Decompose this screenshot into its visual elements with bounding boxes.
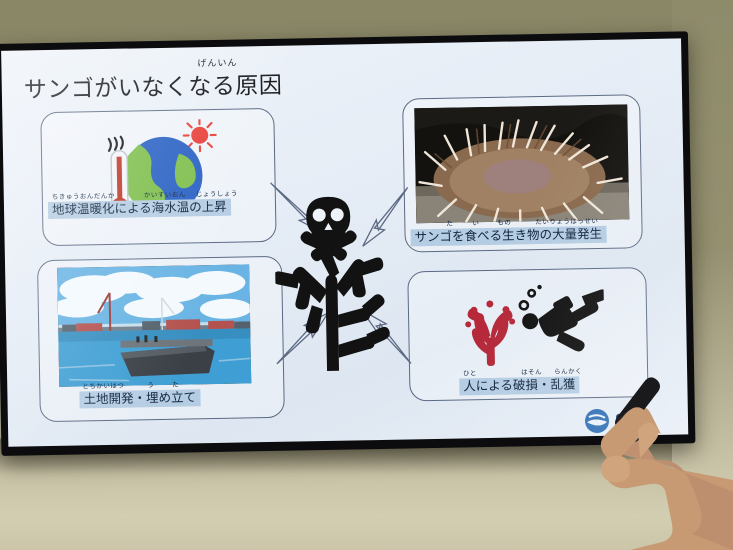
tv-bezel-inner: げんいん サンゴがいなくなる原因 [1, 38, 688, 446]
caption-predators: た い もの たいりょうはっせい サンゴを食べる生き物の大量発生 [410, 226, 606, 247]
hand-holding-pointer [592, 360, 733, 550]
ruby-mono: もの [497, 220, 511, 228]
caption-reclamation: とちかいはつ う た 土地開発・埋め立て [79, 389, 200, 409]
ruby-ta-tate: た [172, 382, 179, 390]
ruby-kaisuion: かいすいおん [144, 192, 186, 200]
presentation-slide: げんいん サンゴがいなくなる原因 [1, 38, 688, 446]
page-title: サンゴがいなくなる原因 [23, 66, 282, 105]
caption-human-damage-text: 人による破損・乱獲 [463, 377, 575, 393]
ruby-ta: た [446, 221, 453, 229]
ruby-tochi-kaihatsu: とちかいはつ [82, 383, 124, 391]
dead-coral-silhouette-icon [274, 244, 391, 372]
ruby-u: う [147, 382, 154, 390]
ruby-hito: ひと [463, 370, 477, 378]
caption-predators-text: サンゴを食べる生き物の大量発生 [414, 227, 602, 244]
screenshot-stage: げんいん サンゴがいなくなる原因 [0, 0, 733, 550]
caption-warming: ちきゅうおんだんか かいすいおん じょうしょう 地球温暖化による海水温の上昇 [48, 199, 231, 220]
caption-reclamation-text: 土地開発・埋め立て [83, 390, 196, 406]
crown-of-thorns-starfish-photo [414, 104, 629, 223]
tv-screen: げんいん サンゴがいなくなる原因 [1, 38, 688, 446]
ruby-joushou: じょうしょう [196, 191, 238, 199]
ruby-chikyu-ondanka: ちきゅうおんだんか [52, 193, 115, 202]
harbor-land-reclamation-photo [57, 264, 251, 386]
caption-warming-text: 地球温暖化による海水温の上昇 [52, 200, 227, 217]
caption-human-damage: ひと はそん らんかく 人による破損・乱獲 [459, 376, 579, 396]
ruby-rankaku: らんかく [554, 368, 582, 376]
red-coral-and-scuba-diver-icon [453, 278, 605, 373]
ruby-i: い [472, 220, 479, 228]
ruby-tairyou-hassei: たいりょうはっせい [535, 218, 598, 227]
center-warning-graphic [274, 194, 407, 376]
ruby-hason: はそん [521, 369, 542, 377]
